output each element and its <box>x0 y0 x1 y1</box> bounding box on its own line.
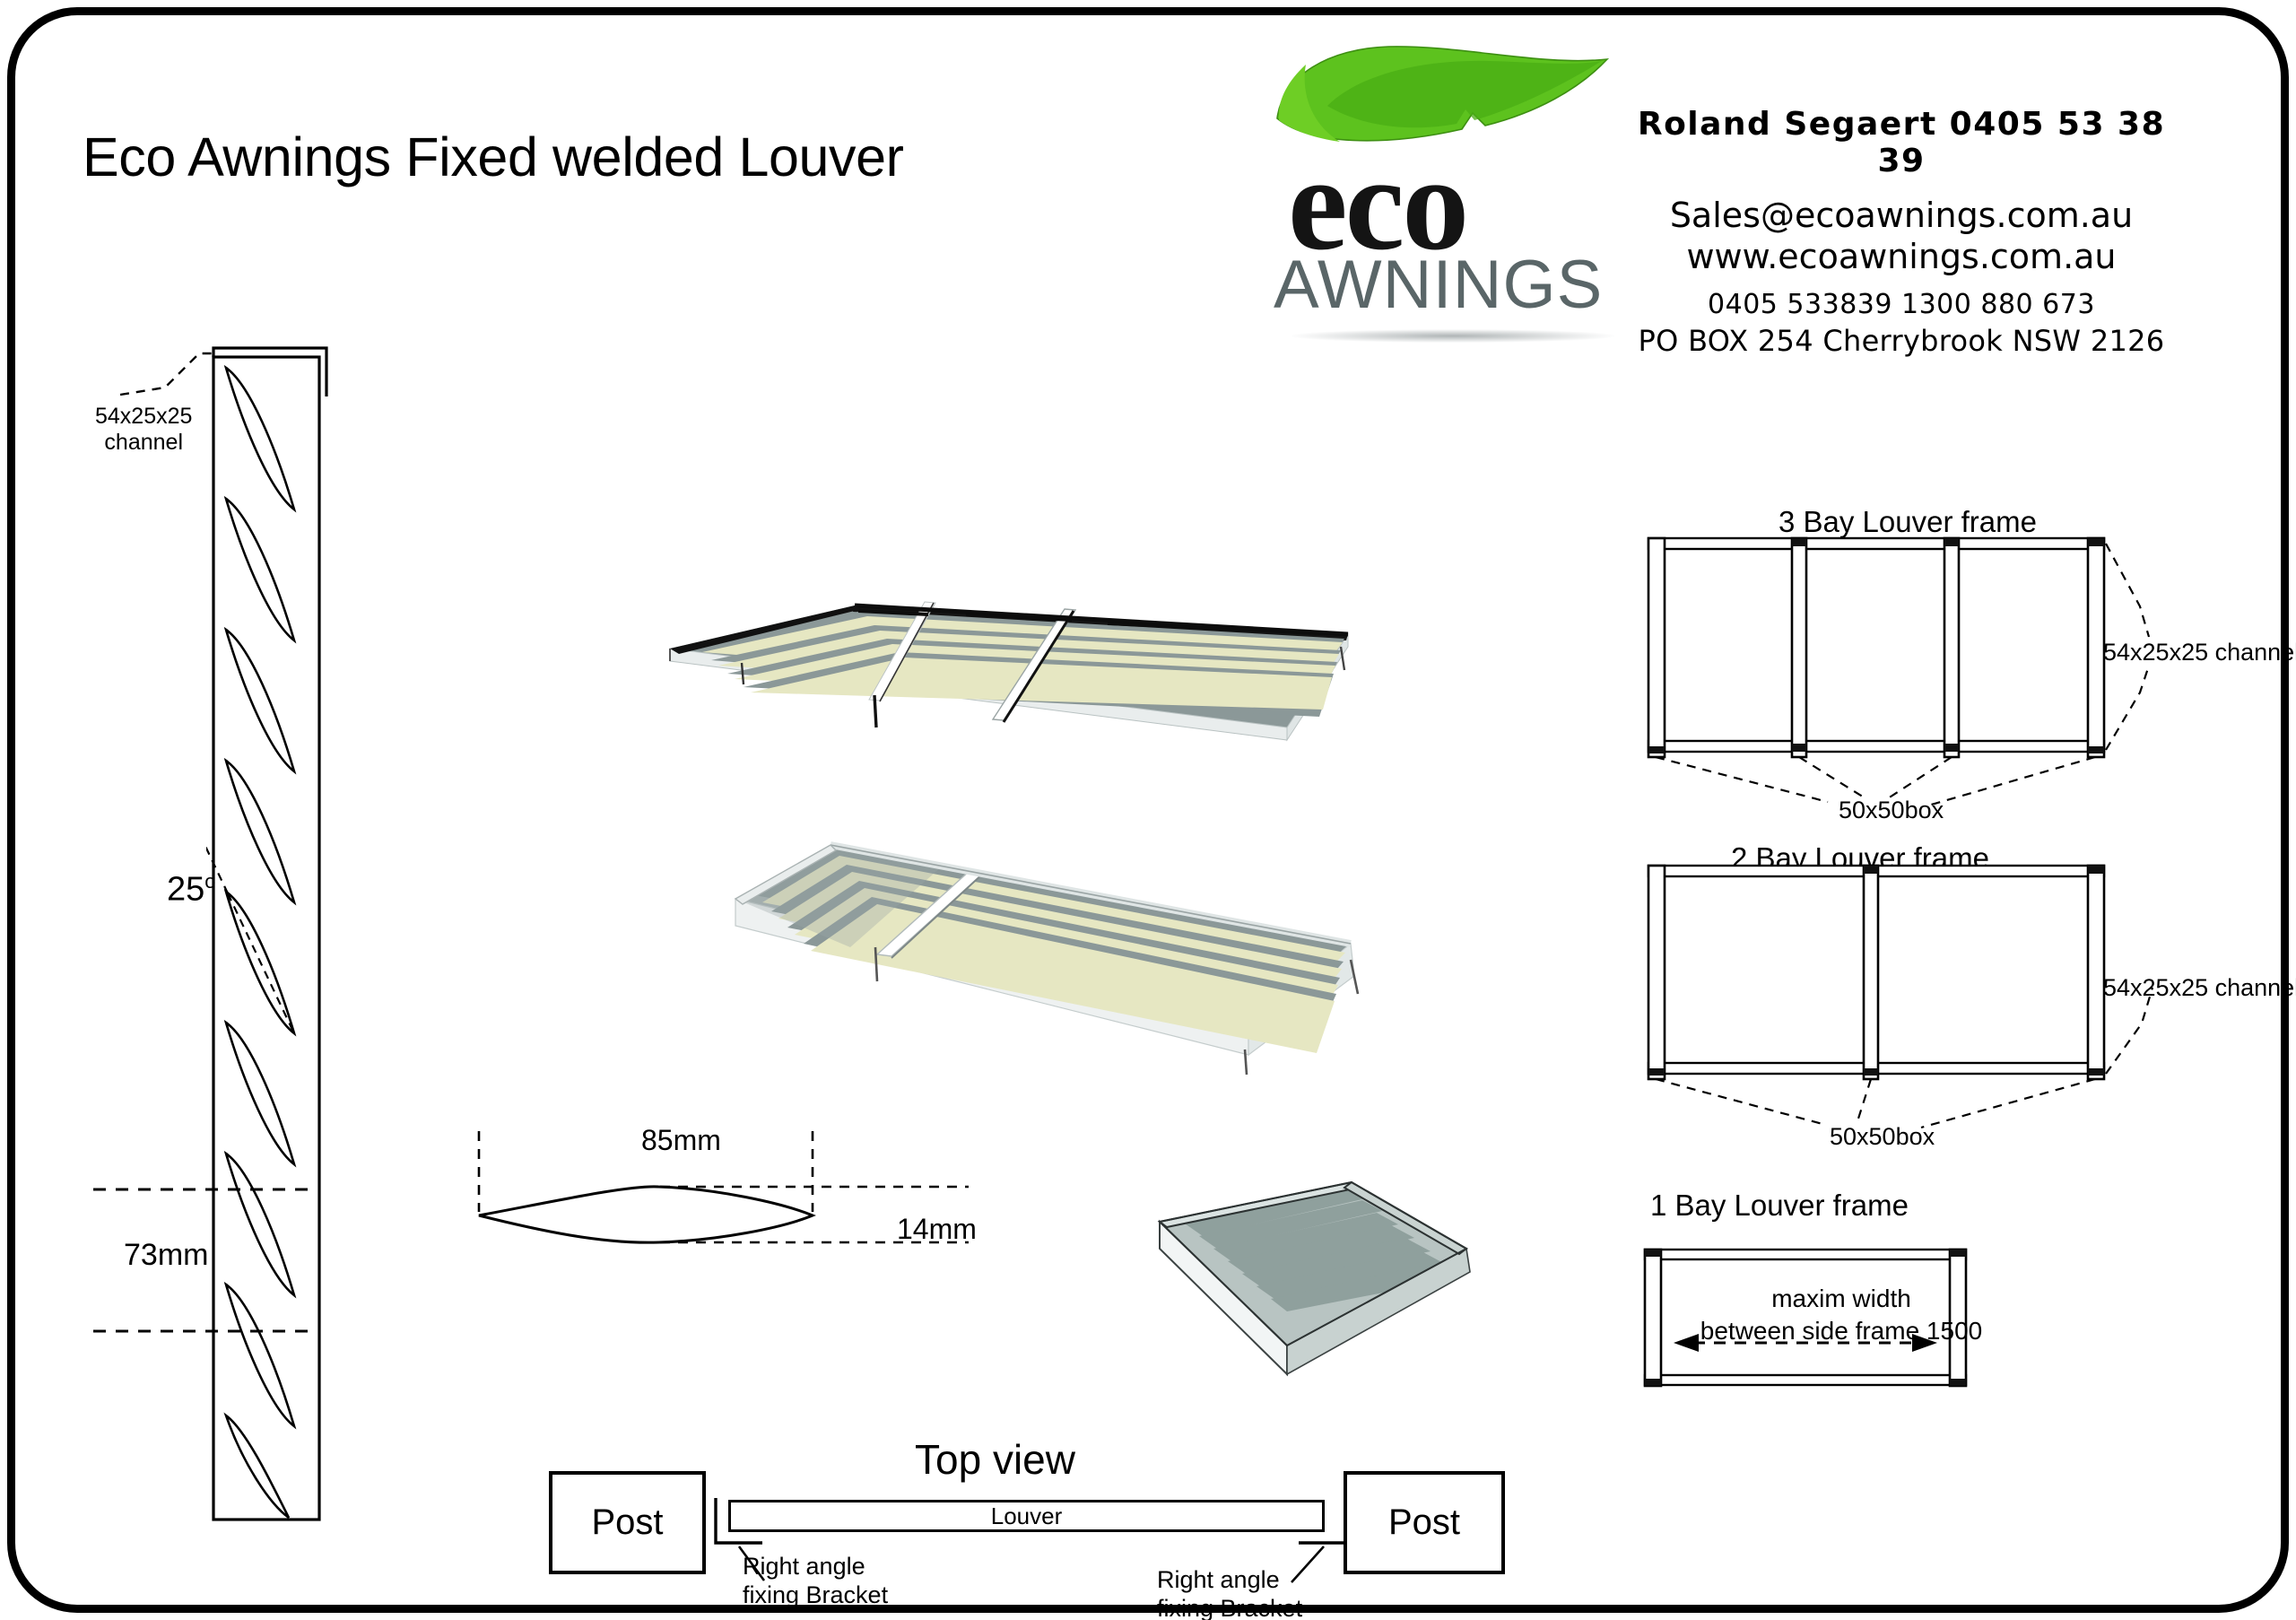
contact-email: Sales@ecoawnings.com.au <box>1623 196 2179 235</box>
logo-shadow <box>1291 329 1614 343</box>
frame-3bay-channel-label: 54x25x25 channel <box>2103 639 2296 666</box>
bracket-label-left: Right angle fixing Bracket <box>743 1552 888 1610</box>
frame-2bay-box-label: 50x50box <box>1830 1123 1935 1151</box>
frame-1bay-maxwidth-label: maxim width between side frame 1500 <box>1675 1283 2007 1347</box>
contact-po-box: PO BOX 254 Cherrybrook NSW 2126 <box>1623 324 2179 358</box>
frame-3bay-box-label: 50x50box <box>1839 797 1944 824</box>
contact-block: Roland Segaert 0405 53 38 39 Sales@ecoaw… <box>1623 106 2179 358</box>
blade-width-label: 85mm <box>641 1124 721 1157</box>
drawing-sheet: Eco Awnings Fixed welded Louver eco AWNI… <box>0 0 2296 1620</box>
eco-awnings-logo: eco AWNINGS <box>1256 36 1632 314</box>
logo-subtext: AWNINGS <box>1274 251 1603 319</box>
contact-name-phone: Roland Segaert 0405 53 38 39 <box>1623 106 2179 179</box>
channel-callout-leader <box>117 332 260 413</box>
frame-2bay-channel-label: 54x25x25 channel <box>2103 974 2296 1002</box>
louver-render-3bay <box>659 552 1368 758</box>
louver-render-2bay <box>700 789 1408 1085</box>
top-view-louver-bar: Louver <box>728 1500 1325 1532</box>
section-pitch-label: 73mm <box>124 1238 208 1273</box>
blade-profile-detail <box>466 1117 987 1278</box>
bracket-label-right: Right angle fixing Bracket <box>1157 1565 1302 1620</box>
section-angle-label: 25o <box>167 870 216 910</box>
page-title: Eco Awnings Fixed welded Louver <box>83 126 904 188</box>
section-channel-label: 54x25x25 channel <box>95 404 192 456</box>
blade-thickness-label: 14mm <box>897 1213 977 1246</box>
post-left: Post <box>549 1471 706 1574</box>
louver-section-view <box>206 341 341 1525</box>
louver-panel-render <box>1144 1175 1511 1417</box>
contact-website: www.ecoawnings.com.au <box>1623 237 2179 276</box>
contact-phones: 0405 533839 1300 880 673 <box>1623 289 2179 320</box>
post-right: Post <box>1344 1471 1505 1574</box>
